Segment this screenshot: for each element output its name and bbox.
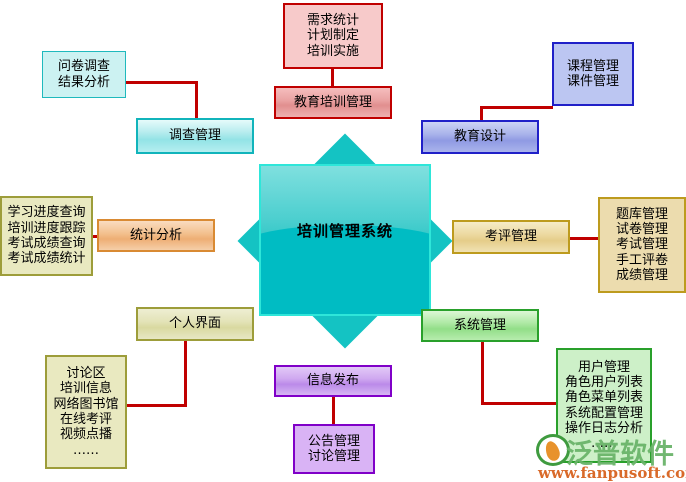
connector-edudesign-h1 — [480, 106, 553, 109]
node-assess-detail-4: 成绩管理 — [616, 268, 668, 283]
node-system-detail-1: 角色用户列表 — [565, 375, 643, 390]
center-node-star: 培训管理系统 — [226, 148, 464, 334]
connector-inforelease-v1 — [332, 395, 335, 425]
node-system-detail-3: 系统配置管理 — [565, 406, 643, 421]
node-inforelease-detail-0: 公告管理 — [308, 434, 360, 449]
center-node-label: 培训管理系统 — [226, 220, 464, 241]
node-assess-detail-0: 题库管理 — [616, 207, 668, 222]
node-edudesign-header-label: 教育设计 — [454, 129, 506, 144]
node-inforelease-header[interactable]: 信息发布 — [274, 365, 392, 397]
node-system-detail-4: 操作日志分析 — [565, 421, 643, 436]
node-survey-details[interactable]: 问卷调查 结果分析 — [42, 51, 126, 98]
node-edutrain-detail-0: 需求统计 — [307, 13, 359, 28]
connector-personal-v1 — [184, 340, 187, 404]
connector-system-v1 — [481, 341, 484, 405]
node-edutrain-detail-1: 计划制定 — [307, 28, 359, 43]
node-system-detail-2: 角色菜单列表 — [565, 390, 643, 405]
node-stats-detail-2: 考试成绩查询 — [7, 236, 85, 251]
node-stats-header[interactable]: 统计分析 — [97, 219, 215, 252]
node-system-detail-0: 用户管理 — [578, 360, 630, 375]
node-personal-detail-5: …… — [73, 443, 99, 458]
connector-personal-h1 — [127, 404, 187, 407]
node-stats-header-label: 统计分析 — [130, 228, 182, 243]
node-edudesign-header[interactable]: 教育设计 — [421, 120, 539, 154]
node-system-details[interactable]: 用户管理 角色用户列表 角色菜单列表 系统配置管理 操作日志分析 …… — [556, 348, 652, 463]
node-survey-detail-1: 结果分析 — [58, 75, 110, 90]
node-personal-detail-4: 视频点播 — [60, 427, 112, 442]
node-personal-detail-1: 培训信息 — [60, 381, 112, 396]
node-stats-details[interactable]: 学习进度查询 培训进度跟踪 考试成绩查询 考试成绩统计 — [0, 196, 93, 276]
node-edutrain-header[interactable]: 教育培训管理 — [274, 86, 392, 119]
node-personal-header-label: 个人界面 — [169, 316, 221, 331]
node-inforelease-details[interactable]: 公告管理 讨论管理 — [293, 424, 375, 474]
node-survey-detail-0: 问卷调查 — [58, 59, 110, 74]
node-stats-detail-0: 学习进度查询 — [7, 205, 85, 220]
connector-assess-h1 — [570, 237, 598, 240]
node-edudesign-details[interactable]: 课程管理 课件管理 — [552, 42, 634, 106]
node-assess-details[interactable]: 题库管理 试卷管理 考试管理 手工评卷 成绩管理 — [598, 197, 686, 293]
node-assess-detail-1: 试卷管理 — [616, 222, 668, 237]
node-assess-header-label: 考评管理 — [485, 229, 537, 244]
node-stats-detail-1: 培训进度跟踪 — [7, 221, 85, 236]
connector-edutrain-v1 — [331, 68, 334, 88]
node-personal-detail-3: 在线考评 — [60, 412, 112, 427]
node-inforelease-detail-1: 讨论管理 — [308, 449, 360, 464]
node-survey-header[interactable]: 调查管理 — [136, 118, 254, 154]
node-assess-header[interactable]: 考评管理 — [452, 220, 570, 254]
node-system-detail-5: …… — [591, 436, 617, 451]
connector-survey-v1 — [195, 81, 198, 118]
node-edudesign-detail-1: 课件管理 — [567, 74, 619, 89]
node-stats-detail-3: 考试成绩统计 — [7, 251, 85, 266]
connector-survey-h1 — [125, 81, 198, 84]
node-personal-detail-2: 网络图书馆 — [53, 397, 118, 412]
node-personal-detail-0: 讨论区 — [66, 366, 105, 381]
watermark-url: www.fanpusoft.com — [538, 464, 686, 482]
diagram-canvas: 培训管理系统 问卷调查 结果分析 调查管理 需求统计 计划制定 培训实施 教育培… — [0, 0, 686, 482]
node-edutrain-header-label: 教育培训管理 — [294, 95, 372, 110]
connector-system-h1 — [481, 402, 556, 405]
node-inforelease-header-label: 信息发布 — [307, 373, 359, 388]
node-survey-header-label: 调查管理 — [169, 128, 221, 143]
node-personal-header[interactable]: 个人界面 — [136, 307, 254, 341]
node-edutrain-details[interactable]: 需求统计 计划制定 培训实施 — [283, 3, 383, 69]
node-edudesign-detail-0: 课程管理 — [567, 59, 619, 74]
node-system-header[interactable]: 系统管理 — [421, 309, 539, 342]
node-assess-detail-3: 手工评卷 — [616, 253, 668, 268]
node-personal-details[interactable]: 讨论区 培训信息 网络图书馆 在线考评 视频点播 …… — [45, 355, 127, 469]
node-edutrain-detail-2: 培训实施 — [307, 44, 359, 59]
node-assess-detail-2: 考试管理 — [616, 237, 668, 252]
node-system-header-label: 系统管理 — [454, 318, 506, 333]
